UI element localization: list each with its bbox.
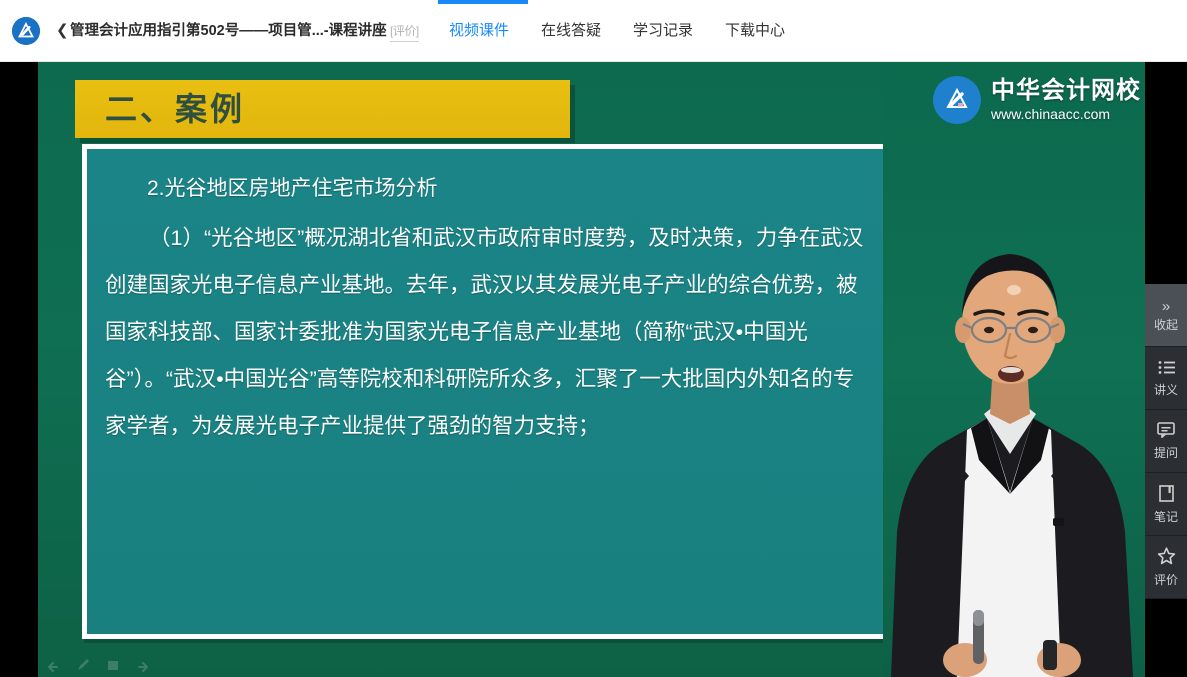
page-title: 管理会计应用指引第502号——项目管...-课程讲座 <box>70 20 387 42</box>
active-tab-indicator <box>438 0 528 4</box>
sidebar-item-label: 评价 <box>1154 573 1178 587</box>
redo-arrow-icon[interactable] <box>136 658 150 672</box>
video-player-stage[interactable]: 二、案例 2.光谷地区房地产住宅市场分析 （1）“光谷地区”概况湖北省和武汉市政… <box>0 62 1187 677</box>
player-side-toolbar[interactable]: » 收起 讲义 提问 <box>1145 284 1187 599</box>
slide-banner: 二、案例 <box>75 80 570 138</box>
lecture-slide: 二、案例 2.光谷地区房地产住宅市场分析 （1）“光谷地区”概况湖北省和武汉市政… <box>38 62 1145 677</box>
note-icon <box>1159 485 1174 506</box>
sidebar-item-label: 笔记 <box>1154 510 1178 524</box>
sidebar-item-label: 收起 <box>1154 318 1178 332</box>
slide-content-box: 2.光谷地区房地产住宅市场分析 （1）“光谷地区”概况湖北省和武汉市政府审时度势… <box>82 144 892 639</box>
sidebar-item-ask[interactable]: 提问 <box>1145 410 1187 473</box>
sidebar-item-label: 讲义 <box>1154 383 1178 397</box>
tab-online-qa[interactable]: 在线答疑 <box>541 20 601 42</box>
app-header: ❮ 管理会计应用指引第502号——项目管...-课程讲座 [评价] 视频课件 在… <box>0 0 1187 62</box>
sidebar-item-collapse[interactable]: » 收起 <box>1145 284 1187 347</box>
slide-content-body: （1）“光谷地区”概况湖北省和武汉市政府审时度势，及时决策，力争在武汉创建国家光… <box>105 215 869 450</box>
watermark-logo: 中华会计网校 www.chinaacc.com <box>933 76 1141 124</box>
watermark-text: 中华会计网校 www.chinaacc.com <box>991 79 1141 121</box>
slide-banner-title: 二、案例 <box>105 87 245 131</box>
sidebar-item-notes[interactable]: 笔记 <box>1145 473 1187 536</box>
pen-icon[interactable] <box>76 658 90 672</box>
lecturer-figure <box>883 62 1145 677</box>
undo-arrow-icon[interactable] <box>46 658 60 672</box>
chat-bubble-icon <box>1157 422 1175 442</box>
tab-video-courseware[interactable]: 视频课件 <box>449 20 509 42</box>
watermark-url: www.chinaacc.com <box>991 107 1141 121</box>
tab-download-center[interactable]: 下载中心 <box>725 20 785 42</box>
chinaacc-watermark-icon <box>933 76 981 124</box>
header-eval-link[interactable]: [评价] <box>390 22 419 42</box>
square-icon[interactable] <box>106 658 120 672</box>
list-icon <box>1158 360 1175 379</box>
sidebar-item-rate[interactable]: 评价 <box>1145 536 1187 599</box>
back-chevron-icon[interactable]: ❮ <box>56 20 69 42</box>
lecturer-video-region <box>883 62 1145 677</box>
sidebar-item-handout[interactable]: 讲义 <box>1145 347 1187 410</box>
slide-annotation-toolbar[interactable] <box>46 658 150 672</box>
sidebar-item-label: 提问 <box>1154 446 1178 460</box>
watermark-name: 中华会计网校 <box>991 79 1141 103</box>
chinaacc-logo-icon[interactable] <box>12 17 40 45</box>
slide-content-heading: 2.光谷地区房地产住宅市场分析 <box>105 173 869 205</box>
star-icon <box>1157 547 1176 569</box>
double-chevron-right-icon: » <box>1162 299 1170 314</box>
tab-study-record[interactable]: 学习记录 <box>633 20 693 42</box>
